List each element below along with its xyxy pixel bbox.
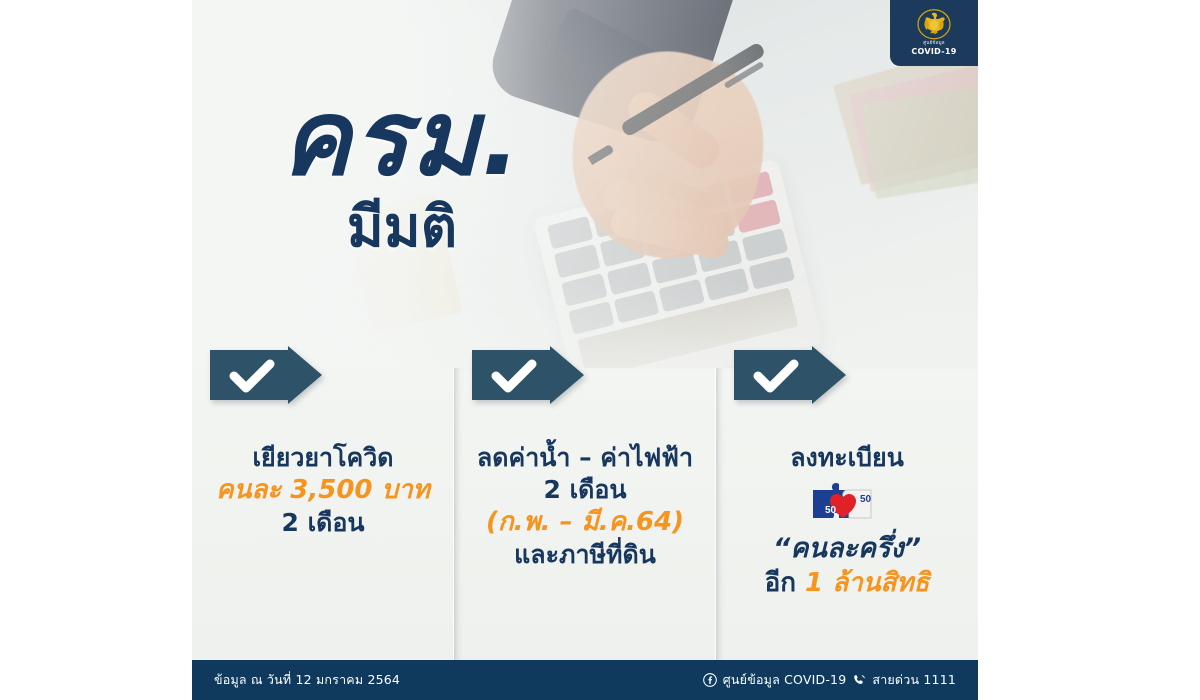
garuda-emblem-icon <box>915 9 953 41</box>
measure-line: และภาษีที่ดิน <box>454 539 716 571</box>
measure-line-highlight: (ก.พ. – มี.ค.64) <box>454 506 716 539</box>
measure-line: 2 เดือน <box>454 474 716 506</box>
footer-contacts: ศูนย์ข้อมูล COVID-19 สายด่วน 1111 <box>703 670 956 690</box>
hotline-label: สายด่วน 1111 <box>872 670 956 690</box>
phone-icon[interactable] <box>852 673 866 687</box>
measures-panels: เยียวยาโควิด คนละ 3,500 บาท 2 เดือน ลดค่… <box>192 368 978 660</box>
check-arrow-icon <box>210 346 322 404</box>
measure-line-quota: อีก 1 ล้านสิทธิ <box>716 567 978 600</box>
covid-info-center-badge: ศูนย์ข้อมูล COVID-19 <box>890 0 978 66</box>
measure-line: ลดค่าน้ำ – ค่าไฟฟ้า <box>454 442 716 474</box>
infographic-poster: ศูนย์ข้อมูล COVID-19 ครม. มีมติ เยียวยาโ… <box>192 0 978 700</box>
headline-block: ครม. มีมติ <box>192 86 612 256</box>
measure-line: เยียวยาโควิด <box>192 442 454 474</box>
puzzle-right-number: 50 <box>860 494 872 505</box>
footer-bar: ข้อมูล ณ วันที่ 12 มกราคม 2564 ศูนย์ข้อม… <box>192 660 978 700</box>
quota-prefix: อีก <box>765 568 805 598</box>
facebook-label: ศูนย์ข้อมูล COVID-19 <box>723 670 847 690</box>
measure-line-program: “คนละครึ่ง” <box>716 532 978 567</box>
badge-title: COVID-19 <box>911 48 956 57</box>
measure-line: ลงทะเบียน <box>716 442 978 474</box>
measure-column-2: ลดค่าน้ำ – ค่าไฟฟ้า 2 เดือน (ก.พ. – มี.ค… <box>454 368 716 660</box>
puzzle-left-number: 50 <box>825 505 837 516</box>
footer-date: ข้อมูล ณ วันที่ 12 มกราคม 2564 <box>214 670 400 690</box>
measure-line: 2 เดือน <box>192 507 454 539</box>
measure-line-highlight: คนละ 3,500 บาท <box>192 474 454 507</box>
check-arrow-icon <box>734 346 846 404</box>
facebook-icon[interactable] <box>703 673 717 687</box>
khon-la-khrueng-puzzle-icon: 50 50 <box>716 480 978 528</box>
measure-column-1: เยียวยาโควิด คนละ 3,500 บาท 2 เดือน <box>192 368 454 660</box>
quota-amount: 1 ล้านสิทธิ <box>805 568 929 598</box>
headline-main: ครม. <box>192 86 612 190</box>
headline-sub: มีมติ <box>192 200 612 256</box>
check-arrow-icon <box>472 346 584 404</box>
measure-column-3: ลงทะเบียน 50 50 “คนละครึ่ง” อีก 1 ล้านสิ… <box>716 368 978 660</box>
